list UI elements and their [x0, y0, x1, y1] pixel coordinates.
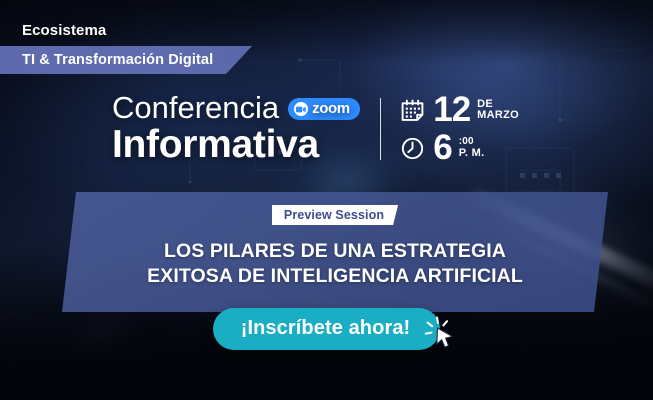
date-row: 12 DE MARZO — [399, 94, 519, 127]
event-month: MARZO — [477, 110, 519, 122]
clock-icon — [399, 135, 426, 162]
zoom-badge: zoom — [288, 98, 360, 120]
headline-row: Conferencia zoom Informativa — [112, 92, 519, 166]
event-day: 12 — [433, 94, 470, 127]
cta-inner: ¡Inscríbete ahora! — [213, 308, 441, 350]
preview-session-badge: Preview Session — [272, 205, 398, 225]
cta-container: ¡Inscríbete ahora! — [0, 308, 653, 350]
panel-title: LOS PILARES DE UNA ESTRATEGIA EXITOSA DE… — [147, 239, 523, 289]
title-line-2: Informativa — [112, 125, 360, 166]
event-hour: 6 — [433, 132, 451, 165]
schedule-block: 12 DE MARZO 6 :00 P. M. — [399, 92, 519, 165]
panel-title-line-2: EXITOSA DE INTELIGENCIA ARTIFICIAL — [147, 265, 523, 287]
event-meridiem: P. M. — [459, 148, 485, 160]
title-line-1: Conferencia zoom — [112, 92, 360, 124]
message-panel: Preview Session LOS PILARES DE UNA ESTRA… — [62, 192, 608, 312]
vertical-divider — [380, 98, 382, 160]
title-line-1-text: Conferencia — [112, 92, 279, 124]
time-row: 6 :00 P. M. — [399, 132, 519, 165]
click-cursor-icon — [422, 314, 462, 354]
title-block: Conferencia zoom Informativa — [112, 92, 360, 166]
calendar-icon — [399, 97, 426, 124]
event-time-suffix: :00 P. M. — [459, 137, 485, 160]
category-ribbon: TI & Transformación Digital — [0, 46, 252, 74]
register-button[interactable]: ¡Inscríbete ahora! — [213, 308, 441, 350]
zoom-badge-label: zoom — [312, 101, 350, 117]
category-ribbon-label: TI & Transformación Digital — [0, 52, 213, 68]
panel-title-line-1: LOS PILARES DE UNA ESTRATEGIA — [164, 240, 506, 262]
video-camera-glyph — [296, 106, 306, 113]
video-camera-icon — [294, 102, 308, 116]
event-month-block: DE MARZO — [477, 99, 519, 123]
eyebrow-label: Ecosistema — [22, 22, 106, 39]
webinar-promo-banner: Ecosistema TI & Transformación Digital C… — [0, 0, 653, 400]
